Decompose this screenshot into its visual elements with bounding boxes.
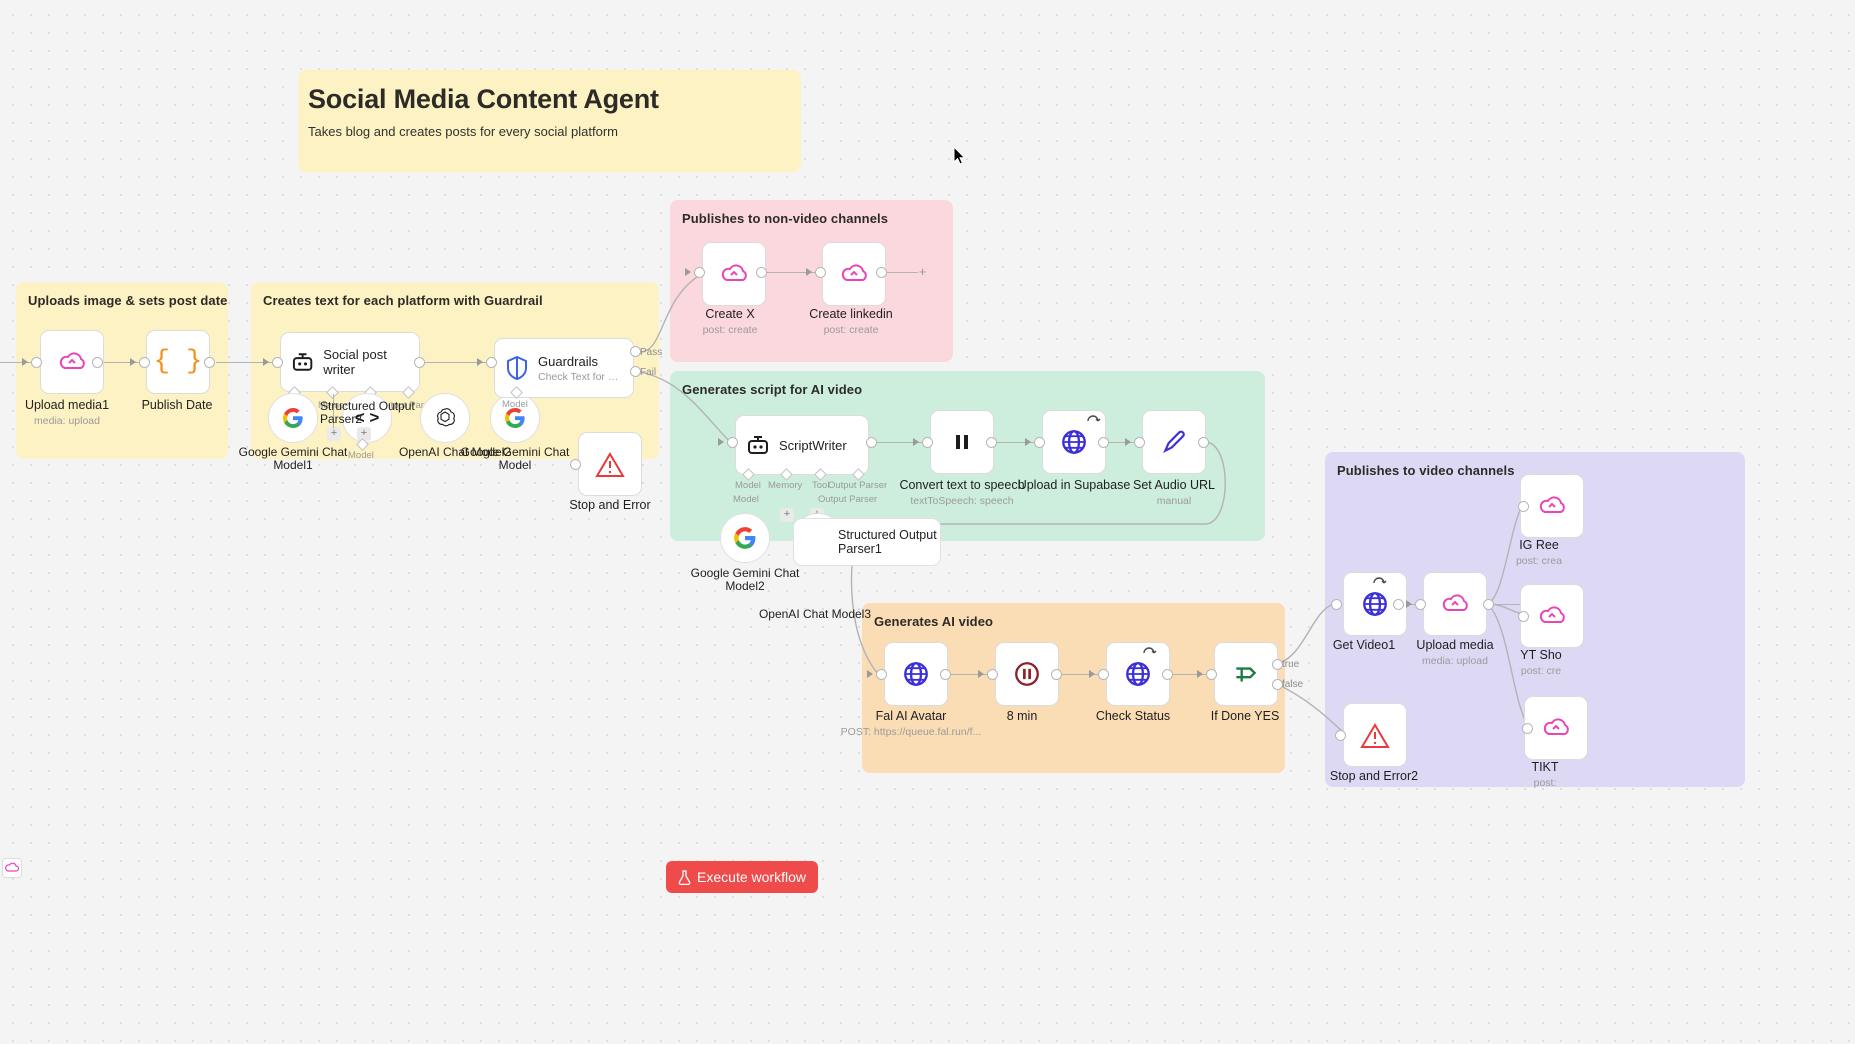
node-output-port[interactable]: [876, 267, 887, 278]
connection-line: [418, 362, 486, 363]
retry-icon: [1086, 414, 1102, 428]
connector-label-model3: Model: [502, 399, 528, 410]
input-arrow: [130, 358, 136, 366]
node-upload-media[interactable]: [1423, 572, 1487, 636]
subnode-google-gemini-chat-model1[interactable]: [268, 393, 318, 443]
node-input-port[interactable]: [1518, 611, 1529, 622]
subnode-label-gemini-right: Google Gemini Chat Model: [455, 446, 575, 472]
cloudinary-icon: [719, 262, 749, 286]
input-arrow: [913, 438, 919, 446]
node-output-port[interactable]: [1051, 669, 1062, 680]
sticky-title-sub: Takes blog and creates posts for every s…: [298, 115, 801, 139]
subnode-label-gemini1: Google Gemini Chat Model1: [233, 446, 353, 472]
input-arrow: [1125, 438, 1131, 446]
workflow-canvas[interactable]: Social Media Content Agent Takes blog an…: [0, 0, 1855, 1044]
node-sub-guardrails: Check Text for Viol...: [538, 371, 624, 383]
node-output-port[interactable]: [1393, 599, 1404, 610]
node-scriptwriter[interactable]: ScriptWriter: [735, 415, 869, 475]
cloudinary-icon: [1541, 716, 1571, 740]
connector-label-memory: Memory: [768, 480, 802, 491]
connector-label-output-parser-b: Output Parser: [818, 494, 877, 505]
input-arrow: [718, 438, 724, 446]
node-input-port[interactable]: [1518, 501, 1529, 512]
globe-icon: [1361, 590, 1389, 618]
node-label-tiktok: TIKT post:: [1470, 760, 1620, 790]
node-label-publish-date: Publish Date: [102, 398, 252, 412]
agent-robot-icon: [291, 351, 314, 373]
sticky-uploads-title: Uploads image & sets post date: [16, 282, 228, 308]
node-input-port[interactable]: [987, 669, 998, 680]
subnode-openai-chat-model2[interactable]: [420, 393, 470, 443]
node-output-port[interactable]: [204, 357, 215, 368]
execute-workflow-label: Execute workflow: [697, 869, 806, 885]
node-output-port[interactable]: [1162, 669, 1173, 680]
node-title-scriptwriter: ScriptWriter: [779, 438, 847, 453]
node-output-port[interactable]: [1483, 599, 1494, 610]
execute-workflow-button[interactable]: Execute workflow: [666, 861, 818, 893]
subnode-label-openai3: OpenAI Chat Model3: [755, 608, 875, 621]
node-social-post-writer[interactable]: Social post writer: [280, 332, 420, 392]
node-input-port[interactable]: [815, 267, 826, 278]
node-input-port[interactable]: [1098, 669, 1109, 680]
node-input-port[interactable]: [922, 437, 933, 448]
input-arrow: [263, 358, 269, 366]
input-arrow: [477, 358, 483, 366]
node-tiktok[interactable]: [1524, 696, 1588, 760]
node-input-port[interactable]: [1206, 669, 1217, 680]
node-input-port[interactable]: [31, 357, 42, 368]
node-input-port[interactable]: [486, 357, 497, 368]
node-title-social-post-writer: Social post writer: [323, 347, 419, 377]
cloudinary-icon: [57, 350, 87, 374]
node-label-if-done-yes: If Done YES: [1170, 709, 1320, 723]
node-set-audio-url[interactable]: [1142, 410, 1206, 474]
node-input-port[interactable]: [139, 357, 150, 368]
node-wait-8-min[interactable]: [995, 642, 1059, 706]
input-arrow: [978, 670, 984, 678]
pause-circle-icon: [1013, 660, 1041, 688]
node-input-port[interactable]: [694, 267, 705, 278]
node-stop-and-error[interactable]: [578, 432, 642, 496]
node-yt-short[interactable]: [1520, 584, 1584, 648]
node-check-status[interactable]: [1106, 642, 1170, 706]
port-label-fail: Fail: [640, 367, 656, 378]
input-arrow: [685, 268, 691, 276]
retry-icon: [1372, 576, 1388, 590]
add-node-button[interactable]: +: [916, 265, 929, 278]
port-label-pass: Pass: [640, 347, 662, 358]
node-publish-date[interactable]: { }: [146, 330, 210, 394]
connector-label-model2: Model: [348, 450, 374, 461]
shield-icon: [505, 355, 529, 381]
node-output-port[interactable]: [1198, 437, 1209, 448]
node-output-port[interactable]: [92, 357, 103, 368]
google-gemini-icon: [732, 525, 758, 551]
warning-triangle-icon: [1360, 722, 1390, 749]
node-convert-text-to-speech[interactable]: [930, 410, 994, 474]
node-output-port[interactable]: [866, 437, 877, 448]
node-output-port[interactable]: [414, 357, 425, 368]
sticky-title-heading: Social Media Content Agent: [298, 70, 801, 115]
input-arrow: [806, 268, 812, 276]
node-input-port[interactable]: [1331, 599, 1342, 610]
google-gemini-icon: [281, 406, 305, 430]
cloudinary-icon: [1537, 494, 1567, 518]
node-label-set-audio-url: Set Audio URL manual: [1099, 478, 1249, 508]
port-label-true: true: [1282, 659, 1299, 670]
input-arrow: [22, 358, 28, 366]
node-input-port[interactable]: [1134, 437, 1145, 448]
canvas-corner-button[interactable]: [2, 858, 22, 878]
pause-icon: [951, 430, 973, 454]
subnode-label-structured-parser2: Structured Output Parser2: [320, 400, 430, 426]
node-output-port[interactable]: [986, 437, 997, 448]
cloudinary-icon: [1537, 604, 1567, 628]
connector-label-tool: Tool: [812, 480, 829, 491]
node-fal-ai-avatar[interactable]: [884, 642, 948, 706]
node-output-port[interactable]: [940, 669, 951, 680]
filter-icon: [1232, 661, 1260, 687]
cloudinary-icon: [839, 262, 869, 286]
input-arrow: [1197, 670, 1203, 678]
subnode-label-gemini2: Google Gemini Chat Model2: [685, 567, 805, 593]
sticky-note-title[interactable]: Social Media Content Agent Takes blog an…: [298, 70, 801, 172]
connector-label-model-b: Model: [733, 494, 759, 505]
node-stop-and-error2[interactable]: [1343, 703, 1407, 767]
node-input-port[interactable]: [1034, 437, 1045, 448]
pencil-icon: [1161, 429, 1187, 455]
port-label-false: false: [1282, 679, 1303, 690]
sticky-aivideo-title: Generates AI video: [862, 603, 1285, 629]
input-arrow: [1025, 438, 1031, 446]
globe-icon: [1124, 660, 1152, 688]
node-if-done-yes[interactable]: [1214, 642, 1278, 706]
node-label-create-linkedin: Create linkedin post: create: [776, 307, 926, 337]
node-output-port[interactable]: [756, 267, 767, 278]
input-arrow: [1406, 600, 1412, 608]
agent-robot-icon: [746, 434, 770, 456]
input-arrow: [867, 670, 873, 678]
node-output-port[interactable]: [1098, 437, 1109, 448]
globe-icon: [902, 660, 930, 688]
node-input-port[interactable]: [1335, 730, 1346, 741]
node-input-port[interactable]: [1522, 723, 1533, 734]
code-braces-icon: { }: [154, 347, 203, 377]
node-title-guardrails: Guardrails: [538, 354, 624, 369]
node-input-port[interactable]: [876, 669, 887, 680]
sticky-script-title: Generates script for AI video: [670, 371, 1265, 397]
connection-line: [886, 272, 918, 273]
sticky-text-title: Creates text for each platform with Guar…: [251, 282, 659, 308]
add-memory-button[interactable]: +: [780, 508, 794, 522]
globe-icon: [1060, 428, 1088, 456]
flask-icon: [678, 870, 691, 885]
node-label-yt-short: YT Sho post: cre: [1466, 648, 1616, 678]
warning-triangle-icon: [595, 451, 625, 478]
node-label-ig-reel: IG Ree post: crea: [1464, 538, 1614, 568]
cloudinary-icon: [5, 861, 19, 875]
node-label-stop-and-error2: Stop and Error2: [1299, 769, 1449, 783]
node-structured-output-parser1[interactable]: Structured Output Parser1: [793, 518, 941, 566]
node-input-port[interactable]: [570, 459, 581, 470]
sticky-nonvideo-title: Publishes to non-video channels: [670, 200, 953, 226]
mouse-cursor: [953, 146, 966, 165]
node-label-stop-and-error: Stop and Error: [535, 498, 685, 512]
add-memory-button[interactable]: +: [327, 427, 341, 441]
connector-label-model: Model: [735, 480, 761, 491]
retry-icon: [1142, 646, 1158, 660]
input-arrow: [1089, 670, 1095, 678]
cloudinary-icon: [1440, 592, 1470, 616]
subnode-google-gemini-chat-model2[interactable]: [720, 513, 770, 563]
node-input-port[interactable]: [272, 357, 283, 368]
node-input-port[interactable]: [727, 437, 738, 448]
node-input-port[interactable]: [1415, 599, 1426, 610]
connection-line: [104, 362, 144, 363]
openai-icon: [433, 406, 457, 430]
node-ig-reel[interactable]: [1520, 474, 1584, 538]
connector-label-output-parser: Output Parser: [828, 480, 887, 491]
node-title-structured-parser1: Structured Output Parser1: [838, 528, 940, 556]
